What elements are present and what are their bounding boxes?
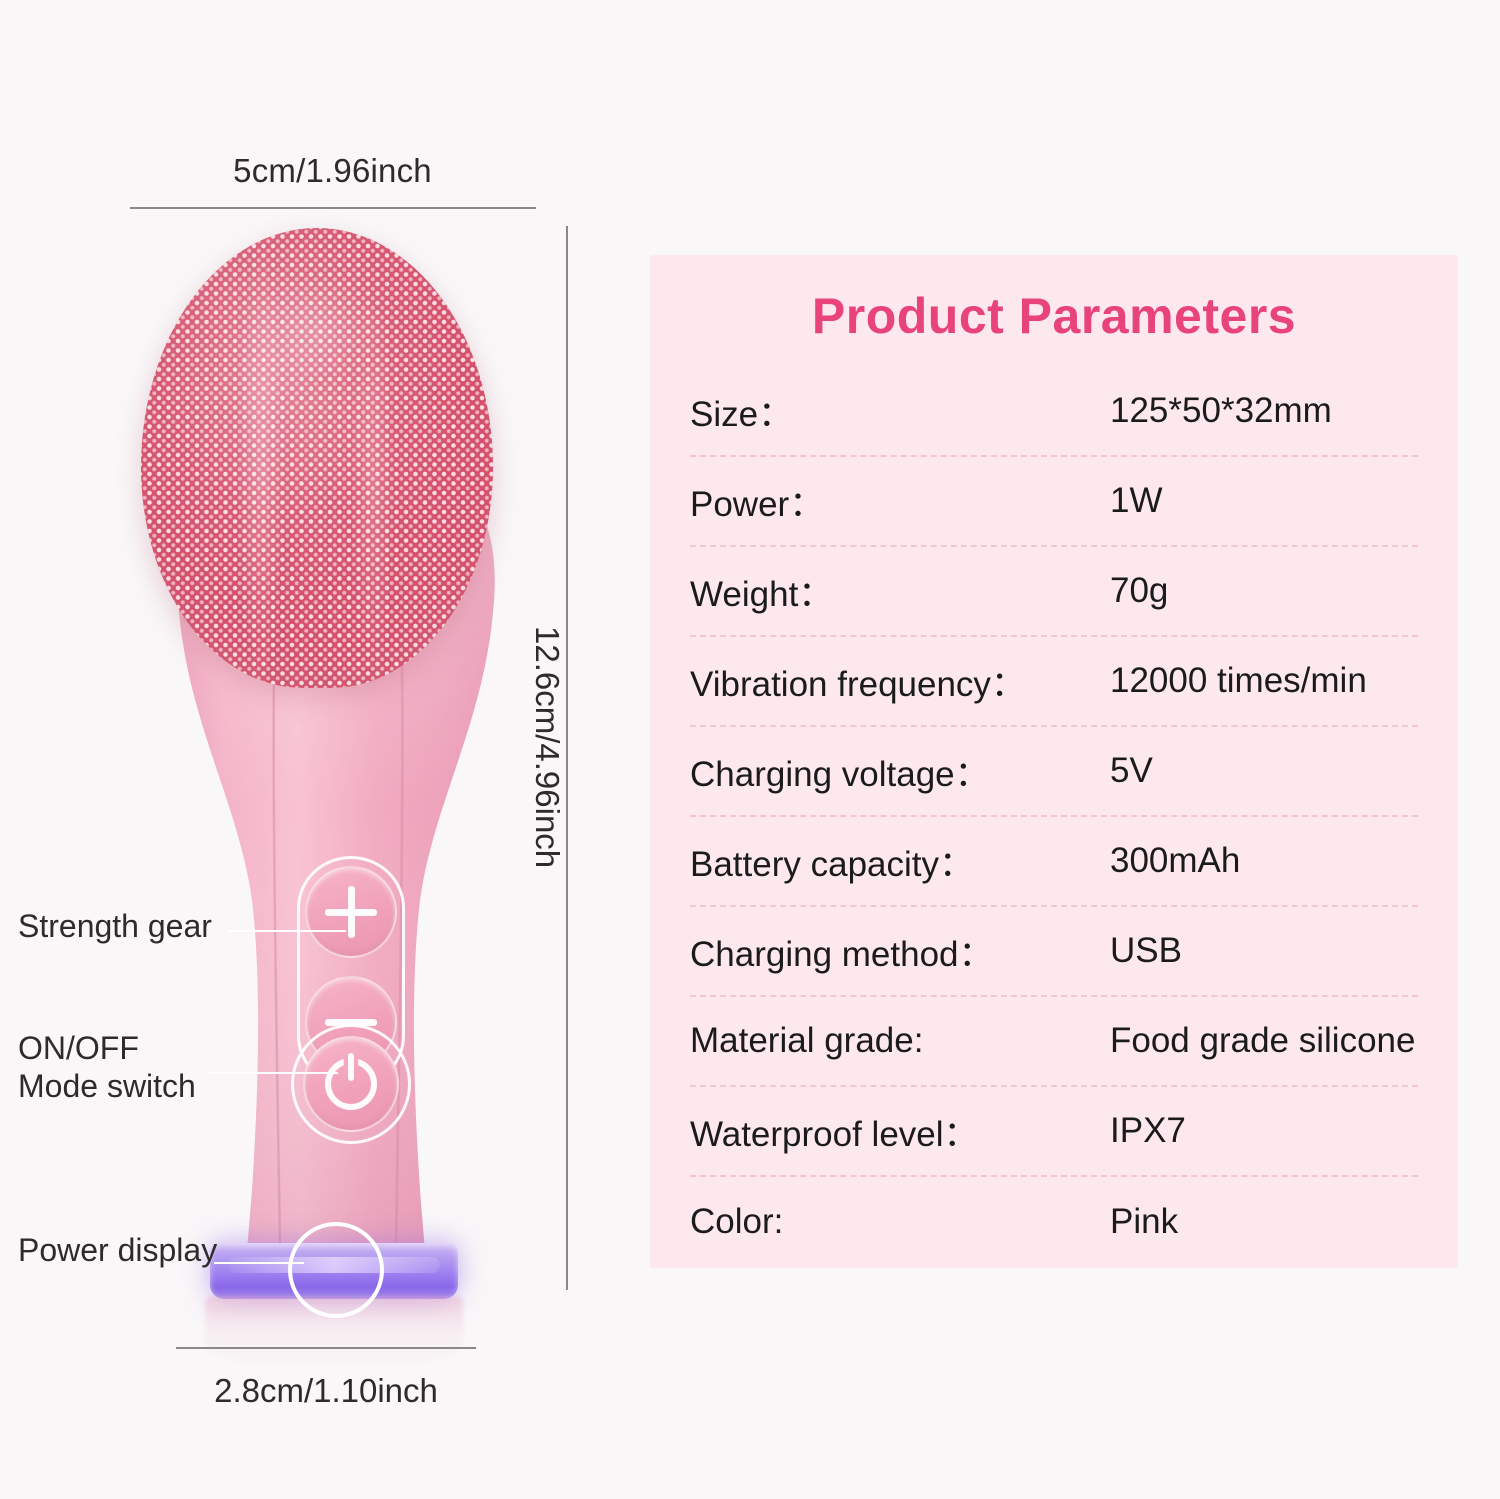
panel-title: Product Parameters bbox=[650, 287, 1458, 345]
parameter-row: Color:Pink bbox=[690, 1177, 1418, 1267]
power-display-highlight-circle bbox=[288, 1222, 384, 1318]
parameter-key: Size： bbox=[690, 386, 1110, 437]
parameter-row: Charging method：USB bbox=[690, 907, 1418, 997]
power-icon bbox=[325, 1058, 377, 1110]
parameter-row: Battery capacity：300mAh bbox=[690, 817, 1418, 907]
callout-power-display: Power display bbox=[18, 1232, 217, 1270]
parameter-key: Charging method： bbox=[690, 926, 1110, 977]
product-parameters-panel: Product Parameters Size：125*50*32mmPower… bbox=[650, 255, 1458, 1268]
parameter-row: Vibration frequency：12000 times/min bbox=[690, 637, 1418, 727]
parameter-value: 300mAh bbox=[1110, 841, 1418, 881]
plus-icon-vertical bbox=[348, 886, 355, 938]
parameter-row: Weight：70g bbox=[690, 547, 1418, 637]
leader-line-strength-gear bbox=[228, 930, 346, 932]
parameter-key: Color: bbox=[690, 1202, 1110, 1242]
parameter-key: Weight： bbox=[690, 566, 1110, 617]
parameter-value: Pink bbox=[1110, 1202, 1418, 1242]
callout-on-off-mode-switch: ON/OFF Mode switch bbox=[18, 1030, 196, 1106]
parameter-value: Food grade silicone bbox=[1110, 1021, 1418, 1061]
parameter-value: 70g bbox=[1110, 571, 1418, 611]
product-device bbox=[0, 0, 640, 1340]
dimension-rule-width-bottom bbox=[176, 1347, 476, 1349]
parameter-row: Waterproof level：IPX7 bbox=[690, 1087, 1418, 1177]
product-infographic: 5cm/1.96inch 12.6cm/4.96inch bbox=[0, 0, 1500, 1499]
parameter-value: 125*50*32mm bbox=[1110, 391, 1418, 431]
parameter-key: Battery capacity： bbox=[690, 836, 1110, 887]
parameter-key: Power： bbox=[690, 476, 1110, 527]
callout-strength-gear: Strength gear bbox=[18, 908, 212, 946]
parameter-key: Charging voltage： bbox=[690, 746, 1110, 797]
parameter-row: Size：125*50*32mm bbox=[690, 367, 1418, 457]
power-mode-button[interactable] bbox=[303, 1036, 399, 1132]
parameter-key: Material grade: bbox=[690, 1021, 1110, 1061]
parameter-value: USB bbox=[1110, 931, 1418, 971]
parameter-row: Charging voltage：5V bbox=[690, 727, 1418, 817]
parameter-key: Vibration frequency： bbox=[690, 656, 1110, 707]
parameter-key: Waterproof level： bbox=[690, 1106, 1110, 1157]
increase-strength-button[interactable] bbox=[305, 866, 397, 958]
parameters-table: Size：125*50*32mmPower：1WWeight：70gVibrat… bbox=[690, 367, 1418, 1267]
brush-head-highlights bbox=[141, 228, 493, 688]
leader-line-on-off bbox=[208, 1072, 338, 1074]
brush-head bbox=[141, 228, 493, 688]
parameter-value: IPX7 bbox=[1110, 1111, 1418, 1151]
parameter-row: Power：1W bbox=[690, 457, 1418, 547]
parameter-value: 5V bbox=[1110, 751, 1418, 791]
parameter-value: 1W bbox=[1110, 481, 1418, 521]
parameter-row: Material grade:Food grade silicone bbox=[690, 997, 1418, 1087]
parameter-value: 12000 times/min bbox=[1110, 661, 1418, 701]
product-figure: 5cm/1.96inch 12.6cm/4.96inch bbox=[0, 0, 640, 1499]
dimension-label-width-bottom: 2.8cm/1.10inch bbox=[146, 1372, 506, 1410]
